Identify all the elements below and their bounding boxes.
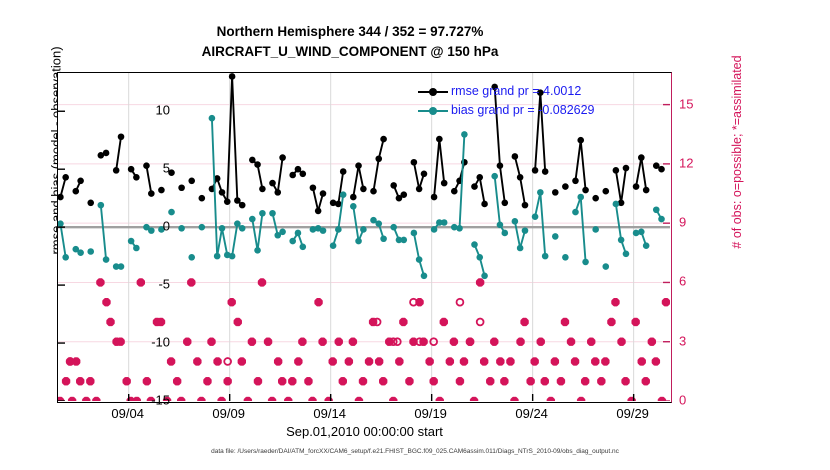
series-point-rmse <box>643 187 650 194</box>
obs-assimilated-marker <box>314 298 322 306</box>
series-point-bias <box>77 249 84 256</box>
series-point-bias <box>178 225 185 232</box>
obs-assimilated-marker <box>601 357 609 365</box>
obs-possible-marker <box>457 299 464 306</box>
series-point-rmse <box>224 198 231 205</box>
obs-assimilated-marker <box>405 377 413 385</box>
chart-title: Northern Hemisphere 344 / 352 = 97.727% … <box>0 22 700 62</box>
series-point-bias <box>431 226 438 233</box>
obs-assimilated-marker <box>500 377 508 385</box>
series-point-rmse <box>229 73 236 80</box>
series-line-rmse <box>500 166 505 203</box>
series-point-rmse <box>436 136 443 143</box>
obs-assimilated-marker <box>284 397 292 401</box>
series-point-bias <box>653 206 660 213</box>
y-tick-left: -5 <box>50 277 170 292</box>
series-point-rmse <box>279 154 286 161</box>
series-point-bias <box>259 210 266 217</box>
obs-assimilated-marker <box>228 298 236 306</box>
series-line-bias <box>258 213 263 250</box>
series-line-rmse <box>439 139 444 183</box>
obs-assimilated-marker <box>355 397 363 401</box>
series-point-bias <box>623 251 630 258</box>
obs-assimilated-marker <box>561 318 569 326</box>
obs-assimilated-marker <box>365 357 373 365</box>
obs-assimilated-marker <box>324 397 332 401</box>
series-point-rmse <box>249 157 256 164</box>
series-point-rmse <box>623 165 630 172</box>
series-point-rmse <box>370 188 377 195</box>
series-point-rmse <box>340 168 347 175</box>
series-point-rmse <box>532 167 539 174</box>
series-line-bias <box>540 192 545 256</box>
series-point-rmse <box>87 200 94 207</box>
series-point-bias <box>98 202 105 209</box>
series-point-rmse <box>552 189 559 196</box>
series-point-bias <box>416 256 423 263</box>
obs-assimilated-marker <box>631 318 639 326</box>
obs-assimilated-marker <box>238 357 246 365</box>
obs-assimilated-marker <box>446 357 454 365</box>
y-tick-left: 5 <box>50 161 170 176</box>
series-point-bias <box>219 225 226 232</box>
series-line-bias <box>515 221 520 248</box>
series-point-bias <box>62 254 69 261</box>
series-point-rmse <box>254 161 261 168</box>
series-point-bias <box>441 219 448 226</box>
obs-assimilated-marker <box>213 357 221 365</box>
series-point-bias <box>103 256 110 263</box>
series-point-rmse <box>380 136 387 143</box>
series-point-bias <box>279 228 286 235</box>
series-point-bias <box>421 273 428 280</box>
series-point-bias <box>199 224 206 231</box>
series-point-bias <box>562 254 569 261</box>
obs-assimilated-marker <box>541 377 549 385</box>
obs-assimilated-marker <box>581 377 589 385</box>
series-line-rmse <box>636 158 641 187</box>
series-point-rmse <box>572 177 579 184</box>
series-point-rmse <box>562 183 569 190</box>
series-point-rmse <box>259 186 266 193</box>
series-point-bias <box>532 213 539 220</box>
y-tick-right: 3 <box>679 333 719 348</box>
obs-assimilated-marker <box>177 397 185 401</box>
obs-assimilated-marker <box>652 357 660 365</box>
series-point-rmse <box>421 171 428 178</box>
y-tick-right: 12 <box>679 155 719 170</box>
obs-assimilated-marker <box>106 318 114 326</box>
obs-assimilated-marker <box>577 397 585 401</box>
series-line-rmse <box>359 166 364 189</box>
obs-assimilated-marker <box>203 377 211 385</box>
series-point-bias <box>476 254 483 261</box>
series-point-bias <box>269 210 276 217</box>
series-point-bias <box>350 203 357 210</box>
series-point-rmse <box>501 200 508 207</box>
legend-line-marker-rmse-icon <box>418 85 448 99</box>
obs-assimilated-marker <box>617 338 625 346</box>
series-line-rmse <box>520 177 525 205</box>
series-point-rmse <box>517 174 524 181</box>
series-point-bias <box>491 173 498 180</box>
obs-assimilated-marker <box>429 377 437 385</box>
chart-title-line-1: Northern Hemisphere 344 / 352 = 97.727% <box>0 22 700 42</box>
series-point-bias <box>234 220 241 227</box>
series-point-rmse <box>497 162 504 169</box>
x-tick-label: 09/09 <box>212 406 245 421</box>
series-point-bias <box>340 191 347 198</box>
obs-assimilated-marker <box>395 357 403 365</box>
series-point-rmse <box>451 188 458 195</box>
obs-assimilated-marker <box>638 357 646 365</box>
x-tick-label: 09/04 <box>111 406 144 421</box>
legend: rmse grand pr = 4.0012 bias grand pr = -… <box>418 82 595 120</box>
y-tick-right: 15 <box>679 96 719 111</box>
series-point-bias <box>320 227 327 234</box>
series-line-rmse <box>575 140 580 181</box>
series-point-rmse <box>148 190 155 197</box>
series-line-bias <box>273 213 278 235</box>
series-point-bias <box>133 245 140 252</box>
legend-item-bias[interactable]: bias grand pr = -0.082629 <box>418 101 595 120</box>
series-point-bias <box>229 253 236 260</box>
series-point-rmse <box>400 191 407 198</box>
series-point-rmse <box>269 180 276 187</box>
obs-assimilated-marker <box>662 298 670 306</box>
obs-assimilated-marker <box>183 338 191 346</box>
series-point-bias <box>380 235 387 242</box>
obs-assimilated-marker <box>621 377 629 385</box>
series-point-rmse <box>592 195 599 202</box>
series-line-rmse <box>434 139 439 197</box>
obs-assimilated-marker <box>450 338 458 346</box>
series-point-bias <box>390 224 397 231</box>
obs-assimilated-marker <box>187 278 195 286</box>
obs-assimilated-marker <box>217 397 225 401</box>
legend-label-rmse: rmse grand pr = 4.0012 <box>451 82 581 101</box>
y-tick-left: 10 <box>50 103 170 118</box>
series-point-bias <box>360 226 367 233</box>
obs-assimilated-marker <box>62 377 70 385</box>
obs-assimilated-marker <box>167 357 175 365</box>
series-point-bias <box>471 241 478 248</box>
series-point-rmse <box>199 195 206 202</box>
series-line-bias <box>581 197 586 262</box>
series-point-bias <box>214 253 221 260</box>
obs-assimilated-marker <box>456 377 464 385</box>
series-line-bias <box>217 228 222 256</box>
obs-assimilated-marker <box>318 338 326 346</box>
series-point-rmse <box>355 162 362 169</box>
obs-assimilated-marker <box>526 377 534 385</box>
series-point-rmse <box>441 180 448 187</box>
obs-possible-marker <box>477 319 484 326</box>
series-point-bias <box>87 248 94 255</box>
series-point-rmse <box>77 177 84 184</box>
series-point-rmse <box>582 187 589 194</box>
obs-assimilated-marker <box>304 377 312 385</box>
series-point-rmse <box>613 167 620 174</box>
obs-assimilated-marker <box>223 377 231 385</box>
plot-svg <box>58 73 670 401</box>
series-point-bias <box>542 253 549 260</box>
obs-assimilated-marker <box>288 377 296 385</box>
obs-assimilated-marker <box>607 318 615 326</box>
obs-assimilated-marker <box>244 397 252 401</box>
figure-canvas: Northern Hemisphere 344 / 352 = 97.727% … <box>0 0 830 470</box>
series-point-rmse <box>476 174 483 181</box>
series-point-rmse <box>360 186 367 193</box>
series-point-bias <box>289 238 296 245</box>
series-point-rmse <box>638 154 645 161</box>
obs-assimilated-marker <box>436 397 444 401</box>
obs-assimilated-marker <box>197 397 205 401</box>
series-point-bias <box>572 209 579 216</box>
series-point-bias <box>300 244 307 251</box>
series-line-rmse <box>414 162 419 189</box>
series-point-rmse <box>219 189 226 196</box>
obs-assimilated-marker <box>122 377 130 385</box>
series-point-rmse <box>300 171 307 178</box>
x-tick-label: 09/29 <box>616 406 649 421</box>
obs-assimilated-marker <box>339 377 347 385</box>
series-point-rmse <box>58 194 64 201</box>
series-point-bias <box>582 259 589 266</box>
obs-assimilated-marker <box>567 338 575 346</box>
x-tick-label: 09/24 <box>515 406 548 421</box>
y-tick-left: 0 <box>50 219 170 234</box>
x-axis-label: Sep.01,2010 00:00:00 start <box>57 424 672 439</box>
series-point-rmse <box>295 166 302 173</box>
obs-assimilated-marker <box>476 278 484 286</box>
series-point-rmse <box>577 137 584 144</box>
obs-assimilated-marker <box>587 338 595 346</box>
obs-assimilated-marker <box>530 357 538 365</box>
series-point-rmse <box>274 189 281 196</box>
series-point-rmse <box>512 153 519 160</box>
series-point-bias <box>239 225 246 232</box>
obs-assimilated-marker <box>274 357 282 365</box>
series-point-rmse <box>289 172 296 179</box>
series-point-rmse <box>416 186 423 193</box>
series-point-bias <box>188 254 195 261</box>
series-point-rmse <box>310 184 317 191</box>
series-point-bias <box>613 201 620 208</box>
series-point-rmse <box>350 194 357 201</box>
series-point-rmse <box>411 159 418 166</box>
legend-line-marker-bias-icon <box>418 104 448 118</box>
series-point-bias <box>456 225 463 232</box>
y-tick-left: -10 <box>50 335 170 350</box>
obs-assimilated-marker <box>264 338 272 346</box>
series-point-bias <box>512 218 519 225</box>
obs-assimilated-marker <box>76 377 84 385</box>
series-point-rmse <box>158 187 165 194</box>
obs-assimilated-marker <box>480 357 488 365</box>
obs-assimilated-marker <box>349 338 357 346</box>
obs-assimilated-marker <box>506 357 514 365</box>
series-point-rmse <box>178 184 185 191</box>
obs-assimilated-marker <box>86 377 94 385</box>
series-point-bias <box>643 242 650 249</box>
series-point-rmse <box>315 208 322 215</box>
series-line-bias <box>495 176 500 225</box>
series-line-bias <box>616 204 621 240</box>
series-point-bias <box>254 247 261 254</box>
series-point-bias <box>209 115 216 122</box>
obs-assimilated-marker <box>254 377 262 385</box>
series-point-bias <box>638 228 645 235</box>
series-point-rmse <box>658 166 665 173</box>
obs-assimilated-marker <box>248 338 256 346</box>
obs-assimilated-marker <box>557 377 565 385</box>
obs-assimilated-marker <box>486 377 494 385</box>
series-point-rmse <box>481 201 488 208</box>
series-point-bias <box>335 226 342 233</box>
y-tick-right: 0 <box>679 393 719 408</box>
series-line-rmse <box>480 177 485 204</box>
obs-assimilated-marker <box>496 357 504 365</box>
series-point-rmse <box>522 202 529 209</box>
obs-assimilated-marker <box>648 338 656 346</box>
y-tick-right: 9 <box>679 215 719 230</box>
obs-assimilated-marker <box>551 357 559 365</box>
obs-assimilated-marker <box>157 318 165 326</box>
legend-label-bias: bias grand pr = -0.082629 <box>451 101 595 120</box>
data-file-footer: data file: /Users/raeder/DAI/ATM_forcXX/… <box>0 448 830 455</box>
y-tick-right: 6 <box>679 274 719 289</box>
series-line-bias <box>353 206 358 241</box>
obs-assimilated-marker <box>510 397 518 401</box>
x-tick-label: 09/19 <box>414 406 447 421</box>
obs-assimilated-marker <box>268 397 276 401</box>
series-point-rmse <box>633 183 640 190</box>
chart-title-line-2: AIRCRAFT_U_WIND_COMPONENT @ 150 hPa <box>0 42 700 62</box>
series-point-bias <box>118 263 125 270</box>
series-line-rmse <box>616 170 621 202</box>
obs-assimilated-marker <box>102 298 110 306</box>
series-point-bias <box>168 209 175 216</box>
series-line-rmse <box>278 158 283 193</box>
obs-assimilated-marker <box>425 357 433 365</box>
series-point-bias <box>577 194 584 201</box>
obs-assimilated-marker <box>460 357 468 365</box>
series-point-bias <box>501 230 508 237</box>
obs-assimilated-marker <box>470 397 478 401</box>
series-line-rmse <box>353 166 358 197</box>
obs-assimilated-marker <box>516 338 524 346</box>
series-line-rmse <box>258 165 263 189</box>
obs-assimilated-marker <box>627 397 635 401</box>
legend-item-rmse[interactable]: rmse grand pr = 4.0012 <box>418 82 595 101</box>
obs-assimilated-marker <box>375 357 383 365</box>
series-point-rmse <box>103 150 110 157</box>
series-point-bias <box>400 237 407 244</box>
series-point-bias <box>411 230 418 237</box>
series-point-rmse <box>390 182 397 189</box>
series-point-bias <box>552 233 559 240</box>
series-point-bias <box>461 131 468 138</box>
plot-area[interactable] <box>57 72 672 403</box>
series-point-bias <box>128 238 135 245</box>
series-point-rmse <box>118 133 125 140</box>
series-point-bias <box>481 273 488 280</box>
series-point-bias <box>249 216 256 223</box>
obs-assimilated-marker <box>258 278 266 286</box>
obs-assimilated-marker <box>389 397 397 401</box>
obs-assimilated-marker <box>547 397 555 401</box>
obs-assimilated-marker <box>490 338 498 346</box>
obs-assimilated-marker <box>359 377 367 385</box>
series-point-bias <box>375 220 382 227</box>
obs-assimilated-marker <box>379 377 387 385</box>
obs-assimilated-marker <box>537 338 545 346</box>
obs-assimilated-marker <box>345 357 353 365</box>
obs-assimilated-marker <box>143 377 151 385</box>
series-point-rmse <box>542 168 549 175</box>
obs-assimilated-marker <box>328 357 336 365</box>
series-line-bias <box>252 219 257 250</box>
obs-assimilated-marker <box>571 357 579 365</box>
series-point-bias <box>602 263 609 270</box>
obs-assimilated-marker <box>611 298 619 306</box>
series-point-rmse <box>471 183 478 190</box>
series-line-rmse <box>581 140 586 190</box>
obs-assimilated-marker <box>520 318 528 326</box>
obs-assimilated-marker <box>294 357 302 365</box>
obs-assimilated-marker <box>308 397 316 401</box>
series-line-rmse <box>232 76 237 200</box>
obs-assimilated-marker <box>207 338 215 346</box>
obs-assimilated-marker <box>193 357 201 365</box>
y-tick-left: -15 <box>50 393 170 408</box>
series-point-bias <box>330 242 337 249</box>
series-point-rmse <box>375 155 382 162</box>
obs-assimilated-marker <box>278 377 286 385</box>
series-line-rmse <box>621 168 626 203</box>
series-point-rmse <box>234 197 241 204</box>
series-point-bias <box>537 189 544 196</box>
series-point-bias <box>517 245 524 252</box>
series-point-rmse <box>72 188 79 195</box>
obs-assimilated-marker <box>173 377 181 385</box>
series-point-bias <box>658 216 665 223</box>
series-point-rmse <box>431 194 438 201</box>
obs-assimilated-marker <box>335 338 343 346</box>
series-point-bias <box>618 237 625 244</box>
series-point-rmse <box>602 188 609 195</box>
series-point-bias <box>522 227 529 234</box>
obs-assimilated-marker <box>440 318 448 326</box>
series-line-bias <box>222 228 227 255</box>
obs-assimilated-marker <box>597 377 605 385</box>
series-point-bias <box>355 238 362 245</box>
x-tick-label: 09/14 <box>313 406 346 421</box>
series-point-bias <box>592 226 599 233</box>
series-line-bias <box>535 192 540 216</box>
series-line-bias <box>232 224 237 256</box>
obs-assimilated-marker <box>642 377 650 385</box>
series-line-bias <box>414 233 419 260</box>
obs-assimilated-marker <box>234 318 242 326</box>
series-line-rmse <box>313 188 318 211</box>
series-point-rmse <box>320 190 327 197</box>
series-point-rmse <box>188 177 195 184</box>
obs-assimilated-marker <box>399 318 407 326</box>
series-point-bias <box>497 222 504 229</box>
obs-assimilated-marker <box>591 357 599 365</box>
